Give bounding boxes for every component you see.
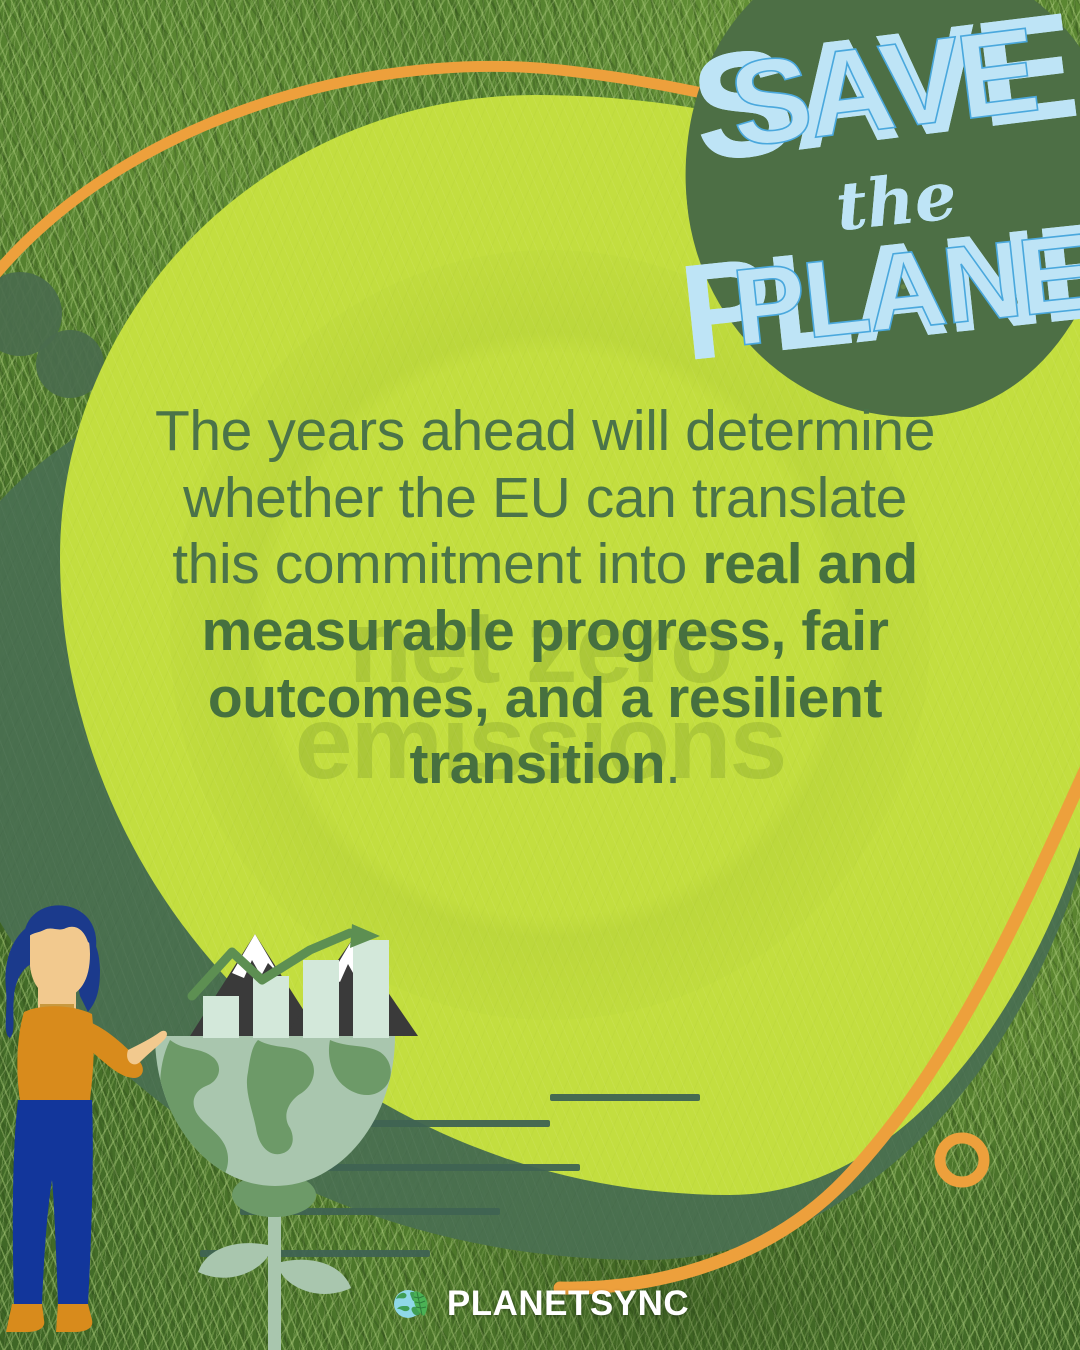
quote-text-block: The years ahead will determine whether t…	[150, 398, 940, 798]
save-the-planet-sticker: SAVE SAVE the PLANET PLANET	[686, 8, 1080, 408]
woman-sweater	[17, 1006, 93, 1100]
brand-name-text: PLANETSYNC	[447, 1284, 689, 1324]
poster-canvas: net zero emissions SAVE SAVE the PLANET …	[0, 0, 1080, 1350]
woman-character	[5, 905, 166, 1332]
woman-pants	[13, 1100, 93, 1304]
quote-plain-after: .	[665, 732, 680, 796]
brand-logo: PLANETSYNC	[0, 1283, 1080, 1325]
orange-curve-bottom-right	[560, 760, 1080, 1288]
globe-leaf-icon	[391, 1283, 433, 1325]
orange-ring-icon	[940, 1138, 984, 1182]
